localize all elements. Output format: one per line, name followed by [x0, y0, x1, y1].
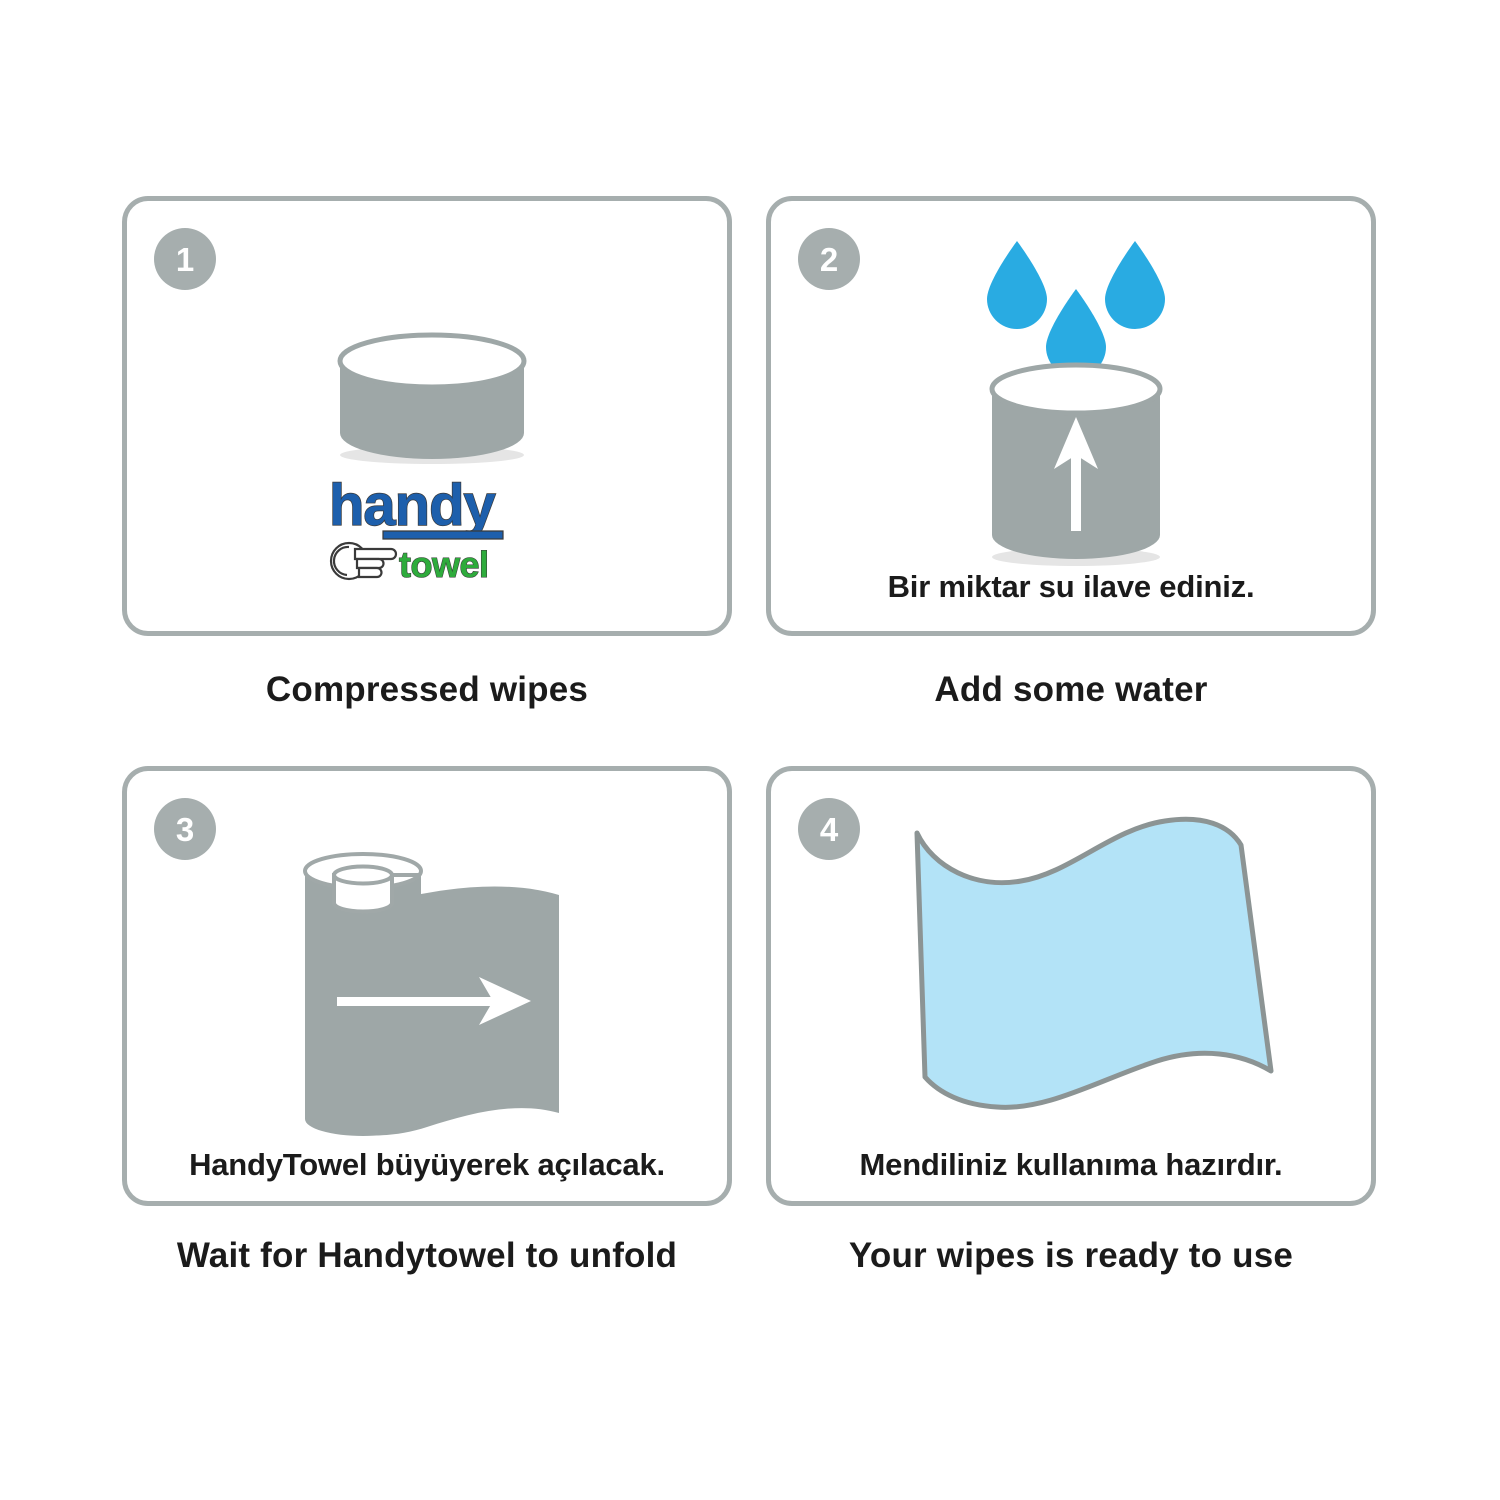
water-drop-icon: [987, 241, 1165, 377]
step-caption-en-2: Add some water: [766, 670, 1376, 710]
step-caption-tr-4: Mendiliniz kullanıma hazırdır.: [771, 1147, 1371, 1183]
step-caption-tr-2: Bir miktar su ilave ediniz.: [771, 569, 1371, 605]
svg-text:towel: towel: [399, 544, 489, 585]
right-arrow-icon: [337, 977, 531, 1025]
step-number-badge-1: 1: [154, 228, 216, 290]
step-card-1: 1 handy: [122, 196, 732, 636]
step-caption-tr-3: HandyTowel büyüyerek açılacak.: [127, 1147, 727, 1183]
step-caption-en-4: Your wipes is ready to use: [766, 1236, 1376, 1276]
instruction-board: 1 handy: [0, 0, 1500, 1500]
handytowel-logo: handy towel: [327, 469, 527, 587]
step-number-badge-4: 4: [798, 798, 860, 860]
up-arrow-icon: [1054, 417, 1098, 531]
unrolling-towel-illustration: [127, 771, 727, 1201]
step-number-badge-3: 3: [154, 798, 216, 860]
step-number-badge-2: 2: [798, 228, 860, 290]
step-panel-4: 4 Mendiliniz kullanıma hazırdır. Your wi…: [766, 766, 1376, 1276]
pointing-hand-icon: [331, 543, 396, 579]
step-caption-en-3: Wait for Handytowel to unfold: [122, 1236, 732, 1276]
wavy-cloth-illustration: [771, 771, 1371, 1201]
step-card-3: 3: [122, 766, 732, 1206]
step-card-4: 4 Mendiliniz kullanıma hazırdır.: [766, 766, 1376, 1206]
step-panel-3: 3: [122, 766, 732, 1276]
step-panel-1: 1 handy: [122, 196, 732, 710]
step-caption-en-1: Compressed wipes: [122, 670, 732, 710]
svg-text:handy: handy: [329, 473, 496, 538]
add-water-illustration: [771, 201, 1371, 631]
step-panel-2: 2: [766, 196, 1376, 710]
step-card-2: 2: [766, 196, 1376, 636]
